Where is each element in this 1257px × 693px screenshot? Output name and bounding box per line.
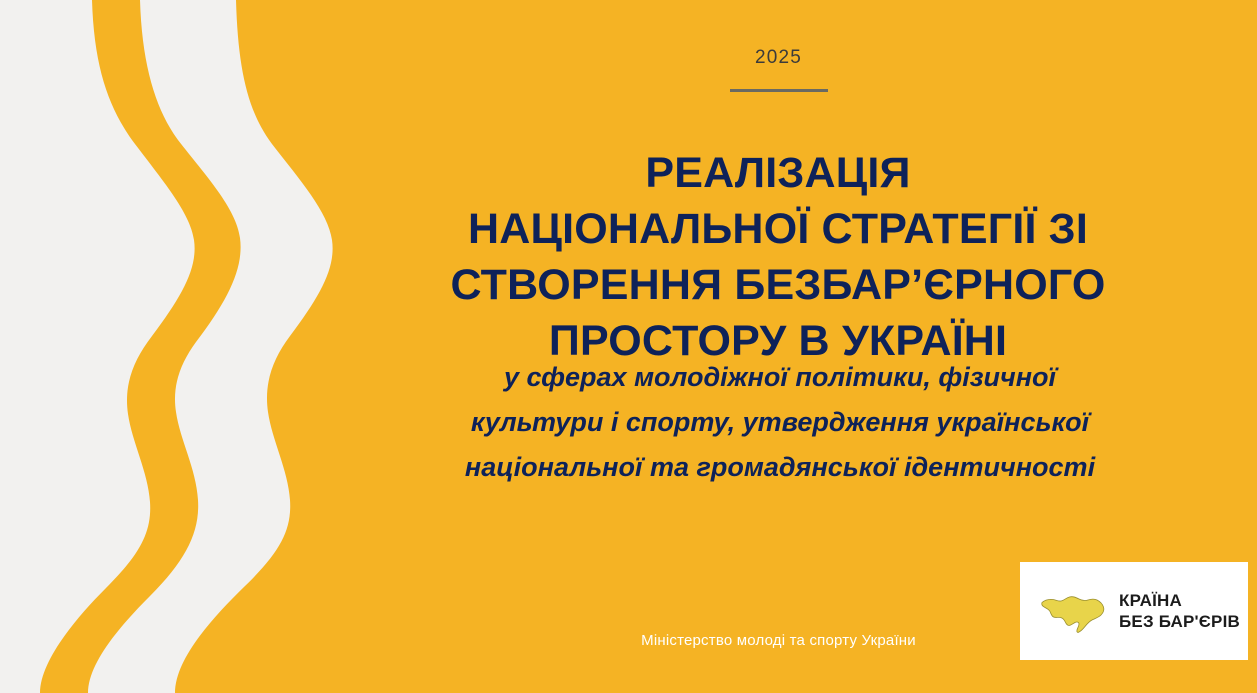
title-slide: 2025 РЕАЛІЗАЦІЯ НАЦІОНАЛЬНОЇ СТРАТЕГІЇ З… xyxy=(0,0,1257,693)
year-label: 2025 xyxy=(300,48,1257,67)
ukraine-map-icon xyxy=(1038,586,1108,636)
subtitle-line-2: культури і спорту, утвердження українськ… xyxy=(290,400,1257,445)
year-divider-rule xyxy=(730,89,828,92)
title-line-3: СТВОРЕННЯ БЕЗБАР’ЄРНОГО xyxy=(288,257,1257,313)
year-block: 2025 xyxy=(300,48,1257,92)
page-subtitle: у сферах молодіжної політики, фізичної к… xyxy=(290,355,1257,490)
logo-barrier-free-country: КРАЇНА БЕЗ БАР'ЄРІВ xyxy=(1020,562,1248,660)
logo-line-2: БЕЗ БАР'ЄРІВ xyxy=(1119,611,1240,632)
subtitle-line-3: національної та громадянської ідентичнос… xyxy=(290,445,1257,490)
title-line-1: РЕАЛІЗАЦІЯ xyxy=(288,145,1257,201)
title-line-2: НАЦІОНАЛЬНОЇ СТРАТЕГІЇ ЗІ xyxy=(288,201,1257,257)
page-title: РЕАЛІЗАЦІЯ НАЦІОНАЛЬНОЇ СТРАТЕГІЇ ЗІ СТВ… xyxy=(288,145,1257,369)
logo-wordmark: КРАЇНА БЕЗ БАР'ЄРІВ xyxy=(1119,590,1240,632)
logo-line-1: КРАЇНА xyxy=(1119,590,1240,611)
subtitle-line-1: у сферах молодіжної політики, фізичної xyxy=(290,355,1257,400)
